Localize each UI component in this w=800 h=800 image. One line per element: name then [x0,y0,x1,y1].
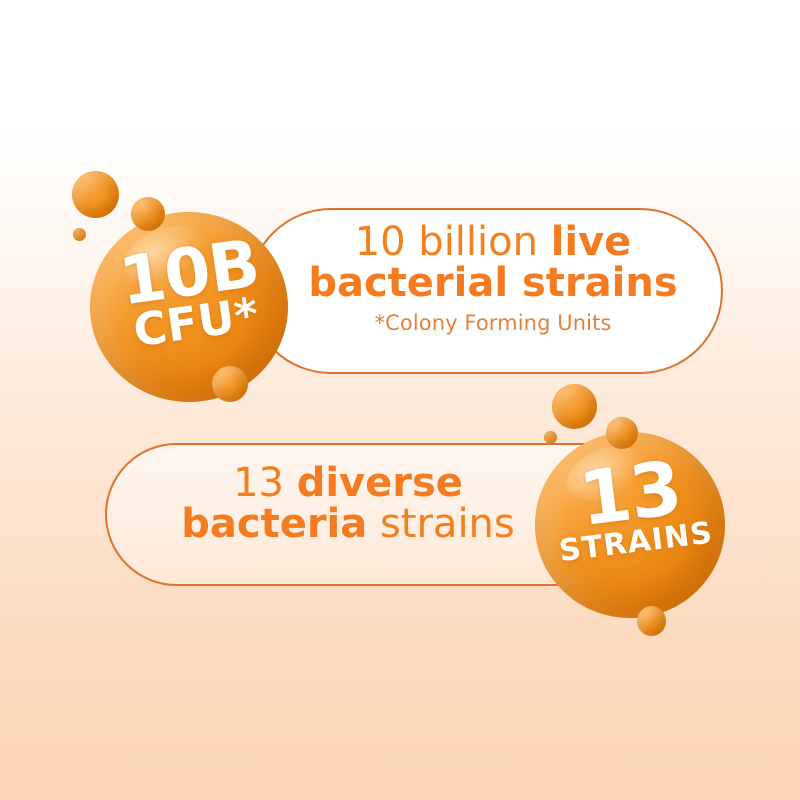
cfu-footnote: *Colony Forming Units [288,313,698,335]
strains-headline-bold-1: diverse [297,460,463,506]
cfu-droplet-bottom-bump-icon [212,366,248,402]
infographic-canvas: 10 billion live bacterial strains *Colon… [0,0,800,800]
cfu-droplet-top-bump-icon [131,197,165,231]
cfu-headline-bold-1: live [551,219,632,265]
strains-droplet-top-bump-icon [606,417,638,449]
strains-card-text: 13 diverse bacteria strains [128,463,568,545]
strains-headline-regular-1: 13 [233,460,297,506]
cfu-headline-line-1: 10 billion live [288,222,698,263]
cfu-droplet-large-icon [72,171,119,218]
cfu-droplet-tiny-icon [73,228,86,241]
cfu-bubble [90,212,288,402]
strains-droplet-bottom-bump-icon [637,606,666,636]
strains-headline-bold-2: bacteria [181,501,367,547]
strains-headline-regular-2: strains [367,501,515,547]
cfu-headline-regular-1: 10 billion [355,219,551,265]
cfu-headline-line-2: bacterial strains [288,263,698,304]
cfu-headline-bold-2: bacterial strains [308,260,677,306]
strains-headline-line-1: 13 diverse [128,463,568,504]
strains-bubble [535,432,725,618]
cfu-card-text: 10 billion live bacterial strains *Colon… [288,222,698,335]
strains-headline-line-2: bacteria strains [128,504,568,545]
strains-droplet-large-icon [552,384,597,429]
strains-droplet-tiny-icon [544,431,557,444]
